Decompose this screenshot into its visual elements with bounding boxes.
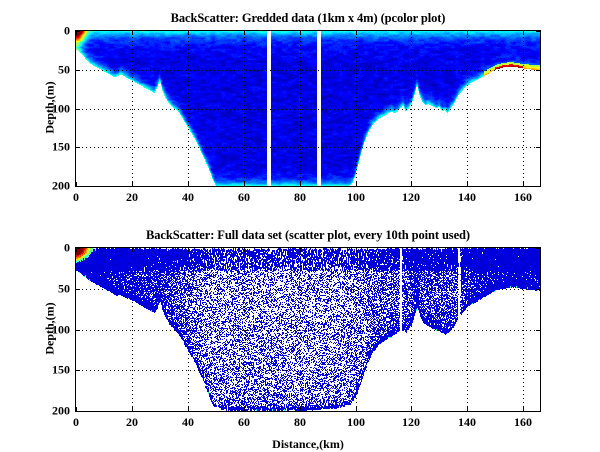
plot-title-bottom: BackScatter: Full data set (scatter plot… (76, 228, 540, 243)
x-tick-label: 100 (347, 415, 365, 430)
y-tick-mark (536, 186, 540, 187)
x-tick-label: 140 (458, 190, 476, 205)
x-tick-label: 80 (294, 190, 306, 205)
y-tick-mark (536, 411, 540, 412)
plot-title-top: BackScatter: Gredded data (1km x 4m) (pc… (76, 11, 540, 26)
x-tick-label: 20 (126, 415, 138, 430)
x-tick-label: 20 (126, 190, 138, 205)
x-tick-label: 140 (458, 415, 476, 430)
x-tick-label: 120 (402, 190, 420, 205)
y-axis-label-top: Depth,(m) (43, 69, 58, 145)
figure-canvas: BackScatter: Gredded data (1km x 4m) (pc… (0, 0, 600, 451)
x-tick-label: 120 (402, 415, 420, 430)
x-axis-label: Distance,(km) (76, 437, 540, 452)
x-tick-label: 80 (294, 415, 306, 430)
x-tick-label: 160 (514, 190, 532, 205)
x-tick-label: 60 (238, 190, 250, 205)
y-tick-label: 200 (34, 404, 70, 419)
x-tick-label: 0 (73, 190, 79, 205)
x-tick-label: 40 (182, 190, 194, 205)
x-tick-label: 100 (347, 190, 365, 205)
x-tick-label: 60 (238, 415, 250, 430)
y-tick-label: 0 (34, 24, 70, 39)
x-tick-label: 40 (182, 415, 194, 430)
x-tick-label: 160 (514, 415, 532, 430)
y-tick-label: 0 (34, 241, 70, 256)
y-tick-label: 200 (34, 179, 70, 194)
x-tick-label: 0 (73, 415, 79, 430)
pcolor-plot-canvas (76, 31, 540, 186)
y-tick-mark (76, 186, 80, 187)
scatter-plot-canvas (76, 248, 540, 411)
y-tick-mark (76, 411, 80, 412)
y-axis-label-bottom: Depth,(m) (43, 290, 58, 366)
